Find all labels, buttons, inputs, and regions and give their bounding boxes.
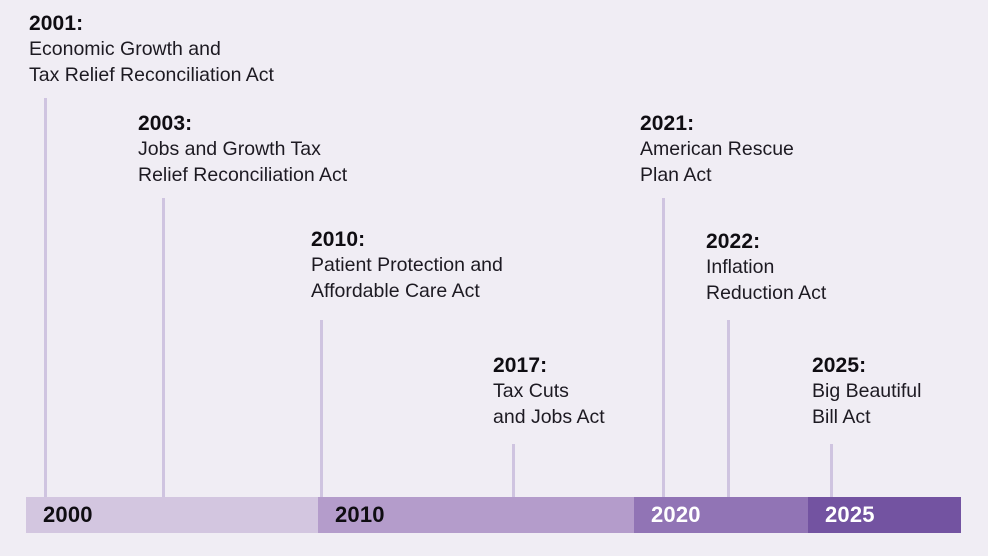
event-year-2017: 2017: (493, 352, 605, 379)
axis-segment-label-2025: 2025 (808, 502, 875, 528)
event-title-2010-line1: Patient Protection and (311, 253, 503, 279)
event-title-2017-line2: and Jobs Act (493, 405, 605, 431)
timeline-event-2017: 2017: Tax Cuts and Jobs Act (493, 352, 605, 431)
event-title-2003-line2: Relief Reconciliation Act (138, 163, 347, 189)
event-title-2001-line1: Economic Growth and (29, 37, 274, 63)
connector-line-2021 (662, 198, 665, 497)
timeline-event-2025: 2025: Big Beautiful Bill Act (812, 352, 922, 431)
axis-segment-2000: 2000 (26, 497, 318, 533)
axis-segment-2020: 2020 (634, 497, 808, 533)
legislation-timeline: 2001: Economic Growth and Tax Relief Rec… (0, 0, 988, 556)
connector-line-2001 (44, 98, 47, 497)
event-year-2021: 2021: (640, 110, 794, 137)
event-title-2017-line1: Tax Cuts (493, 379, 605, 405)
axis-segment-label-2020: 2020 (634, 502, 701, 528)
connector-line-2010 (320, 320, 323, 497)
connector-line-2025 (830, 444, 833, 497)
event-title-2025-line2: Bill Act (812, 405, 922, 431)
event-title-2010-line2: Affordable Care Act (311, 279, 503, 305)
timeline-event-2022: 2022: Inflation Reduction Act (706, 228, 826, 307)
timeline-event-2001: 2001: Economic Growth and Tax Relief Rec… (29, 10, 274, 89)
axis-segment-label-2010: 2010 (318, 502, 385, 528)
timeline-event-2010: 2010: Patient Protection and Affordable … (311, 226, 503, 305)
event-title-2021-line2: Plan Act (640, 163, 794, 189)
event-year-2010: 2010: (311, 226, 503, 253)
event-title-2003-line1: Jobs and Growth Tax (138, 137, 347, 163)
connector-line-2017 (512, 444, 515, 497)
event-title-2001-line2: Tax Relief Reconciliation Act (29, 63, 274, 89)
event-title-2021-line1: American Rescue (640, 137, 794, 163)
event-year-2001: 2001: (29, 10, 274, 37)
event-title-2022-line1: Inflation (706, 255, 826, 281)
timeline-axis-bar: 2000 2010 2020 2025 (26, 497, 961, 533)
timeline-event-2021: 2021: American Rescue Plan Act (640, 110, 794, 189)
event-year-2025: 2025: (812, 352, 922, 379)
connector-line-2022 (727, 320, 730, 497)
event-title-2022-line2: Reduction Act (706, 281, 826, 307)
event-title-2025-line1: Big Beautiful (812, 379, 922, 405)
event-year-2003: 2003: (138, 110, 347, 137)
timeline-event-2003: 2003: Jobs and Growth Tax Relief Reconci… (138, 110, 347, 189)
event-year-2022: 2022: (706, 228, 826, 255)
connector-line-2003 (162, 198, 165, 497)
axis-segment-label-2000: 2000 (26, 502, 93, 528)
axis-segment-2025: 2025 (808, 497, 961, 533)
axis-segment-2010: 2010 (318, 497, 634, 533)
